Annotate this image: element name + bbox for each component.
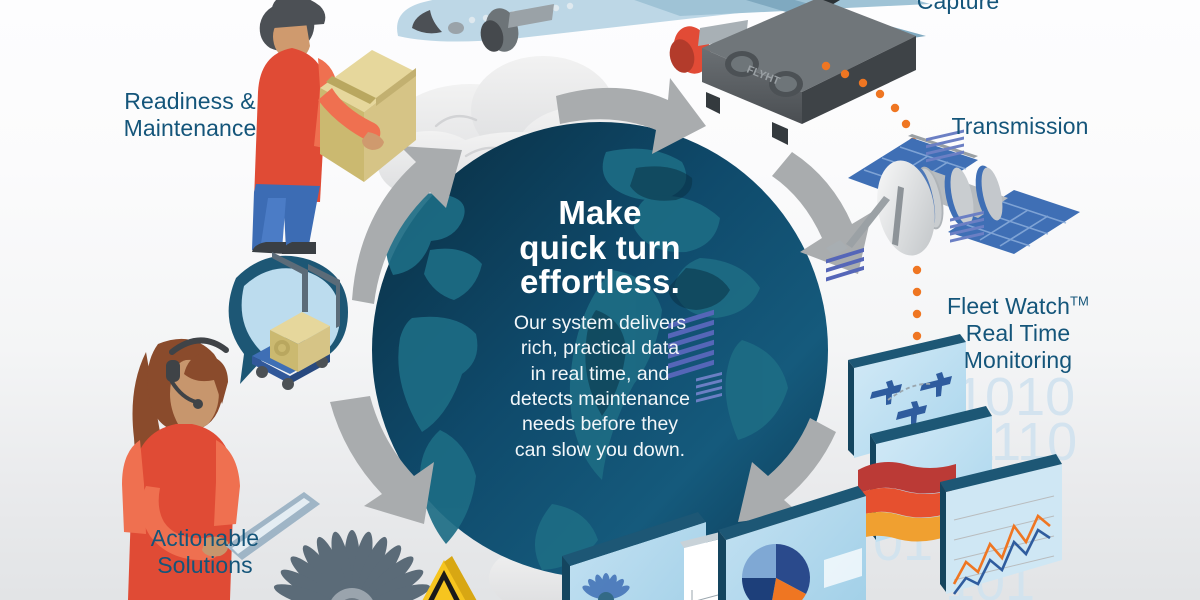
headline-line3: effortless. (468, 265, 732, 300)
label-fleetwatch-line1: Fleet WatchTM (918, 293, 1118, 320)
label-transmission-text: Transmission (920, 113, 1120, 140)
infographic-canvas: 1010 101110 011 01 101 (0, 0, 1200, 600)
headline-line2: quick turn (468, 231, 732, 266)
label-capture-text: Capture (848, 0, 1068, 15)
label-actionable-line1: Actionable (110, 525, 300, 552)
label-fleetwatch-line3: Monitoring (918, 347, 1118, 374)
label-readiness-line1: Readiness & (60, 88, 320, 115)
body-line6: can slow you down. (468, 438, 732, 463)
body-line1: Our system delivers (468, 311, 732, 336)
body-copy: Our system delivers rich, practical data… (468, 311, 732, 463)
label-actionable-line2: Solutions (110, 552, 300, 579)
capture-device: FLYHT (702, 0, 916, 145)
label-fleetwatch-brand: Fleet Watch (947, 293, 1070, 319)
label-readiness-line2: Maintenance (60, 115, 320, 142)
headline: Make quick turn effortless. (468, 196, 732, 300)
label-capture: Capture (848, 0, 1068, 15)
headline-line1: Make (468, 196, 732, 231)
body-line3: in real time, and (468, 362, 732, 387)
label-actionable-solutions: Actionable Solutions (110, 525, 300, 579)
body-line4: detects maintenance (468, 387, 732, 412)
label-readiness-maintenance: Readiness & Maintenance (60, 88, 320, 142)
label-fleet-watch: Fleet WatchTM Real Time Monitoring (918, 293, 1118, 374)
center-message: Make quick turn effortless. Our system d… (468, 196, 732, 463)
label-transmission: Transmission (920, 113, 1120, 140)
label-fleetwatch-line2: Real Time (918, 320, 1118, 347)
trademark-symbol: TM (1070, 293, 1089, 308)
speech-bubble (229, 252, 348, 390)
body-line5: needs before they (468, 412, 732, 437)
body-line2: rich, practical data (468, 336, 732, 361)
